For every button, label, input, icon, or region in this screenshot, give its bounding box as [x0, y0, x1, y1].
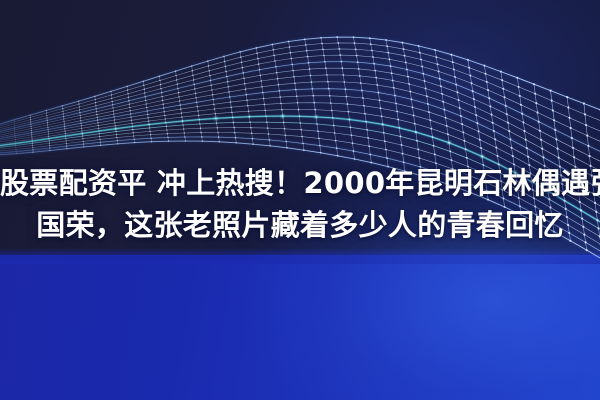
banner-canvas: 股票配资平 冲上热搜！2000年昆明石林偶遇张 国荣，这张老照片藏着多少人的青春…	[0, 0, 600, 400]
background-band-feather	[0, 248, 600, 264]
headline-line-1: 股票配资平 冲上热搜！2000年昆明石林偶遇张	[0, 162, 600, 204]
headline-line-2: 国荣，这张老照片藏着多少人的青春回忆	[0, 204, 600, 246]
page-title: 股票配资平 冲上热搜！2000年昆明石林偶遇张 国荣，这张老照片藏着多少人的青春…	[0, 162, 600, 246]
background-gradient-lower-band	[0, 255, 600, 400]
